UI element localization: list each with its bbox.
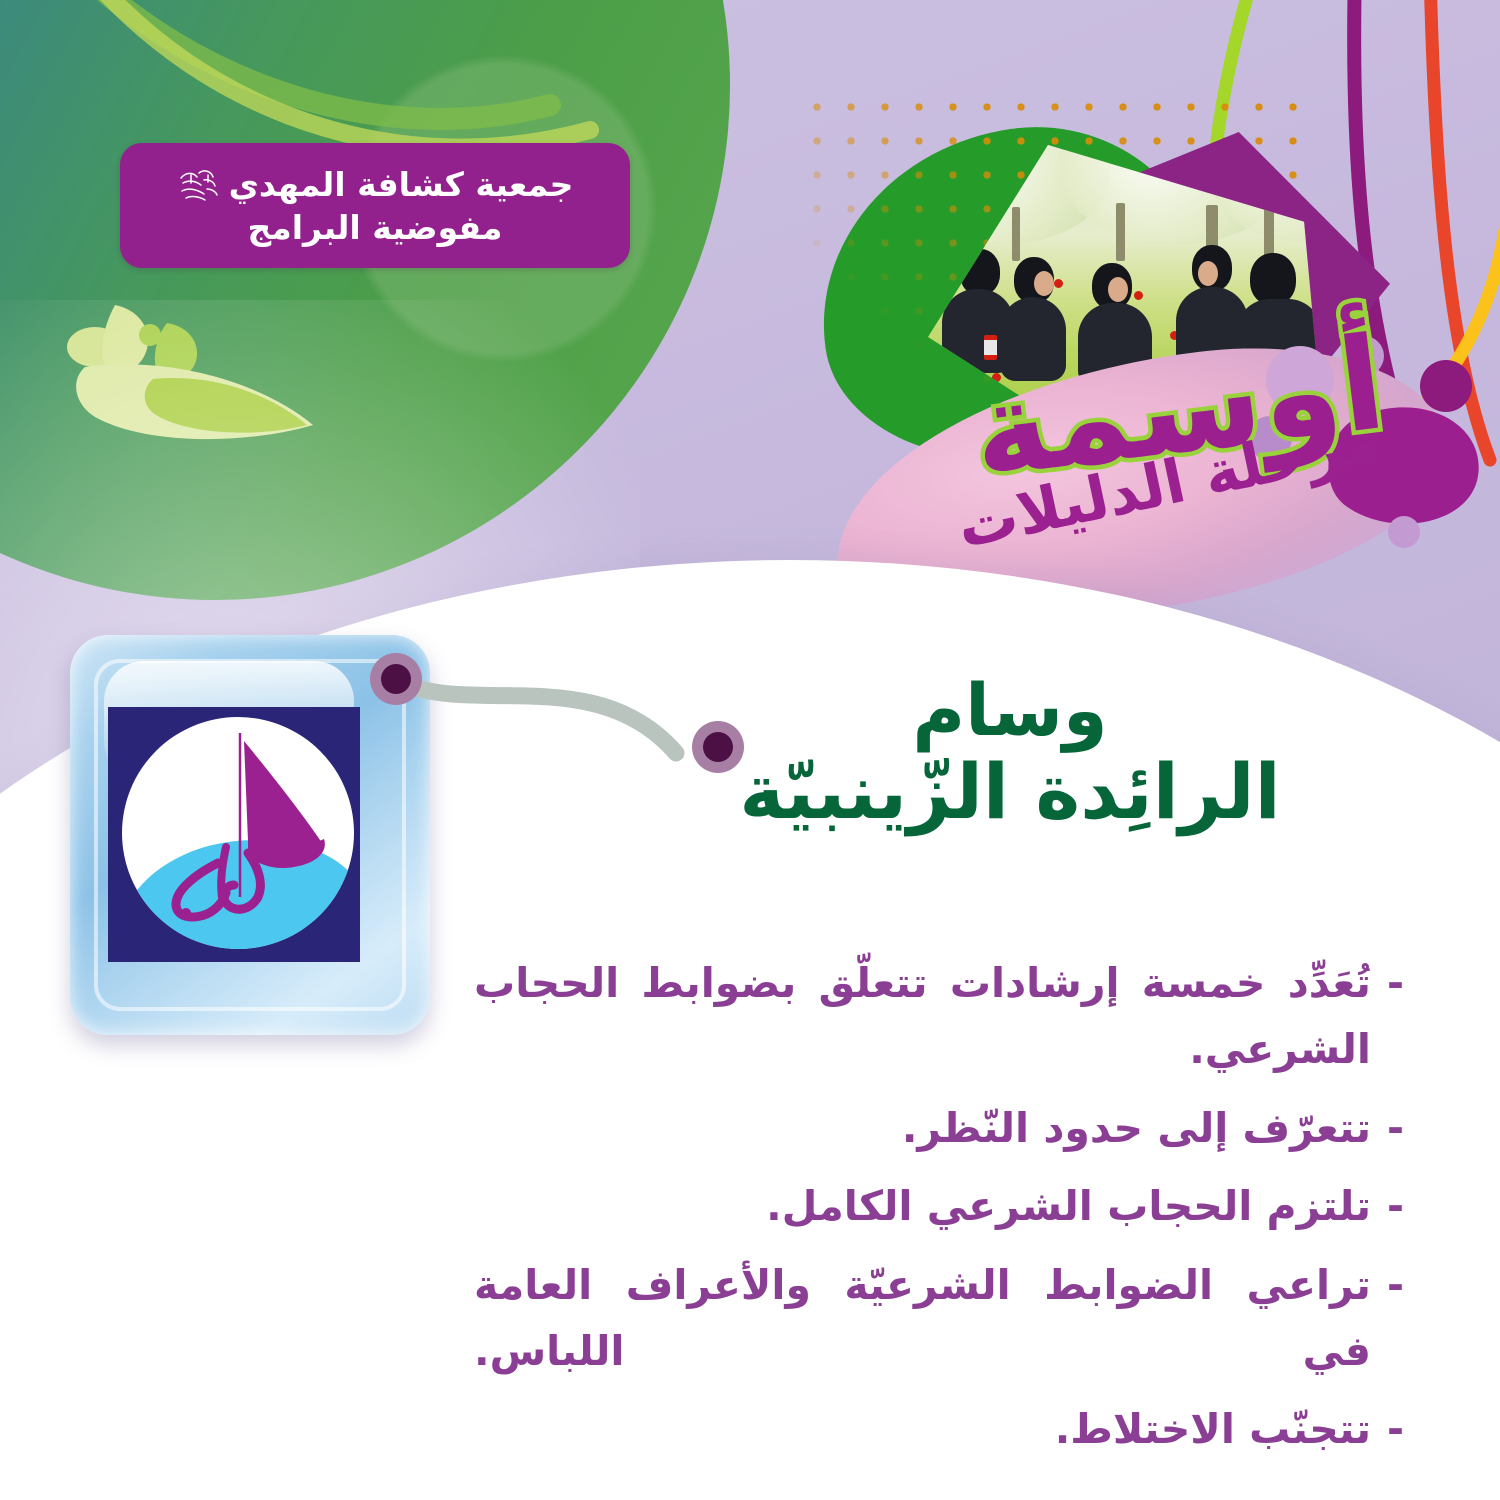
organisation-line1-row: جمعية كشافة المهدي (177, 165, 574, 205)
award-title-line2: الرائِدة الزّينبيّة (640, 752, 1380, 833)
sailboat-badge-icon (122, 717, 354, 949)
requirement-item: -تراعي الضوابط الشرعيّة والأعراف العامة … (474, 1252, 1404, 1385)
requirement-text: تُعَدِّد خمسة إرشادات تتعلّق بضوابط الحج… (474, 950, 1371, 1083)
bullet-dash-icon: - (1387, 1095, 1404, 1161)
tree-trunk (1012, 207, 1020, 261)
tree-trunk (1116, 203, 1125, 261)
award-title-line1: وسام (640, 672, 1380, 748)
requirement-text: تلتزم الحجاب الشرعي الكامل. (474, 1173, 1371, 1239)
organisation-label: جمعية كشافة المهدي مفوضية البرامج (120, 143, 630, 268)
requirement-text: تتجنّب الاختلاط. (474, 1396, 1371, 1462)
requirement-item: -تُعَدِّد خمسة إرشادات تتعلّق بضوابط الح… (474, 950, 1404, 1083)
calligraphy-seal-icon (177, 165, 219, 205)
badge-eyelet (370, 653, 422, 705)
badge-navy-panel (108, 707, 360, 962)
requirement-item: -تتجنّب الاختلاط. (474, 1396, 1404, 1462)
organisation-department: مفوضية البرامج (248, 210, 503, 246)
requirement-item: -تتعرّف إلى حدود النّظر. (474, 1095, 1404, 1161)
award-title: وسام الرائِدة الزّينبيّة (640, 672, 1380, 833)
poster-canvas: جمعية كشافة المهدي مفوضية البرامج (0, 0, 1500, 1500)
requirement-text: تتعرّف إلى حدود النّظر. (474, 1095, 1371, 1161)
bullet-dash-icon: - (1387, 950, 1404, 1016)
bullet-dash-icon: - (1387, 1396, 1404, 1462)
requirement-text: تراعي الضوابط الشرعيّة والأعراف العامة ف… (474, 1252, 1371, 1385)
requirements-list: -تُعَدِّد خمسة إرشادات تتعلّق بضوابط الح… (474, 950, 1404, 1475)
bullet-dash-icon: - (1387, 1252, 1404, 1318)
bullet-dash-icon: - (1387, 1173, 1404, 1239)
organisation-name: جمعية كشافة المهدي (229, 167, 574, 203)
badge-circle (122, 717, 354, 949)
requirement-item: -تلتزم الحجاب الشرعي الكامل. (474, 1173, 1404, 1239)
